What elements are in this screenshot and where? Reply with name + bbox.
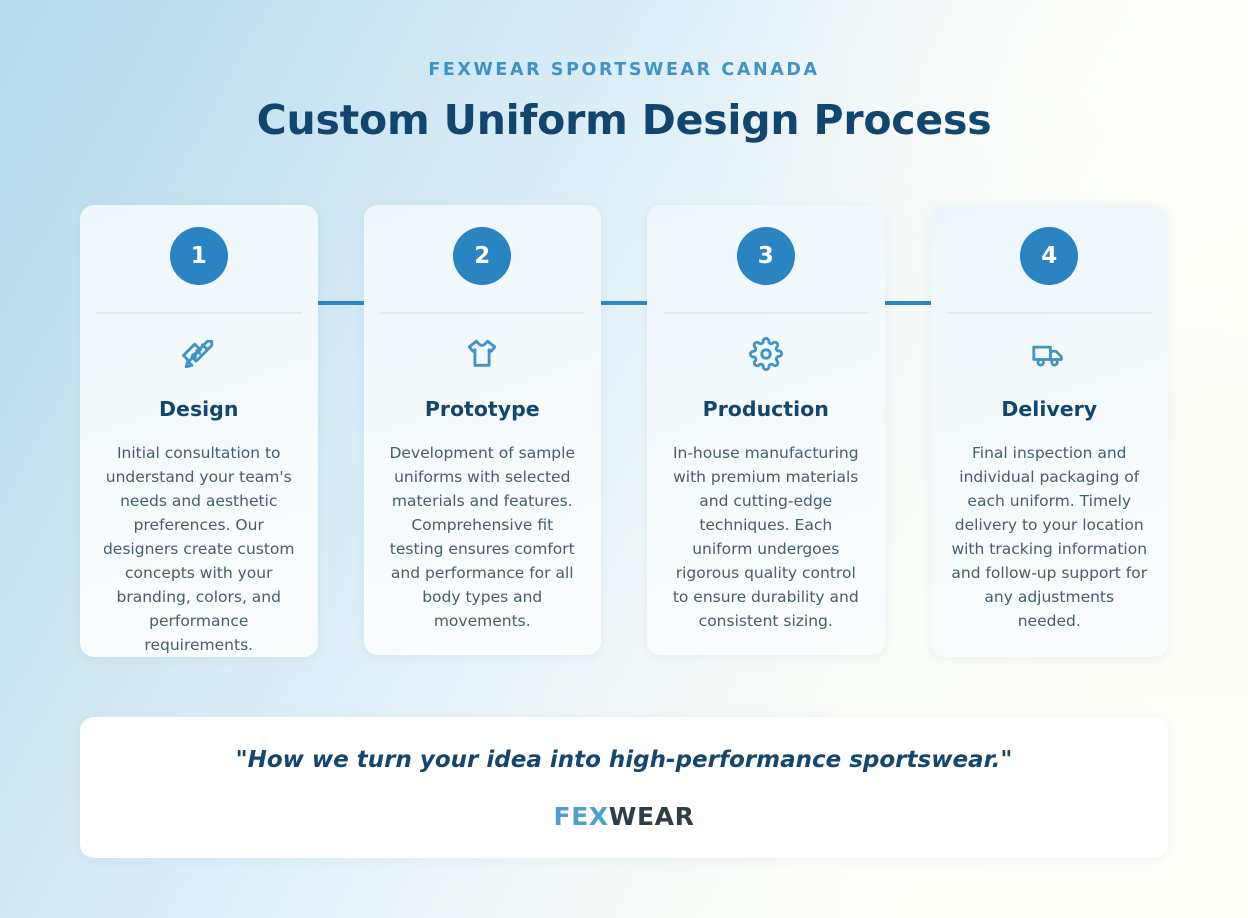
process-steps-section: → → → 1 Design Initi: [80, 205, 1168, 657]
logo-secondary-text: WEAR: [609, 802, 695, 831]
step-title: Production: [663, 397, 869, 422]
footer-panel: "How we turn your idea into high-perform…: [80, 717, 1168, 858]
card-divider: [663, 312, 869, 314]
card-divider: [380, 312, 586, 314]
gear-icon: [663, 336, 869, 372]
step-number-badge: 3: [737, 227, 795, 285]
step-number-badge: 2: [453, 227, 511, 285]
step-card-production[interactable]: 3 Production In-house manufacturing with…: [647, 205, 885, 655]
step-title: Delivery: [947, 397, 1153, 422]
brand-logo: FEXWEAR: [554, 804, 695, 829]
step-title: Design: [96, 397, 302, 422]
page-title: Custom Uniform Design Process: [0, 97, 1248, 144]
step-description: In-house manufacturing with premium mate…: [663, 441, 869, 633]
infographic-page: FEXWEAR SPORTSWEAR CANADA Custom Uniform…: [0, 0, 1248, 918]
page-header: FEXWEAR SPORTSWEAR CANADA Custom Uniform…: [0, 0, 1248, 144]
brand-eyebrow: FEXWEAR SPORTSWEAR CANADA: [0, 62, 1248, 80]
card-divider: [947, 312, 1153, 314]
pencil-ruler-icon: [96, 336, 302, 372]
step-card-delivery[interactable]: 4 Delivery Final inspection and individu…: [931, 205, 1169, 657]
step-number-badge: 1: [170, 227, 228, 285]
step-card-prototype[interactable]: 2 Prototype Development of sample unifor…: [364, 205, 602, 655]
tshirt-icon: [380, 336, 586, 372]
logo-primary-text: FEX: [554, 802, 609, 831]
delivery-truck-icon: [947, 336, 1153, 372]
step-description: Initial consultation to understand your …: [96, 441, 302, 657]
step-number-badge: 4: [1020, 227, 1078, 285]
step-description: Final inspection and individual packagin…: [947, 441, 1153, 633]
step-card-design[interactable]: 1 Design Initial consultation to underst…: [80, 205, 318, 657]
step-description: Development of sample uniforms with sele…: [380, 441, 586, 633]
step-card-list: 1 Design Initial consultation to underst…: [80, 205, 1168, 657]
step-title: Prototype: [380, 397, 586, 422]
card-divider: [96, 312, 302, 314]
tagline-quote: "How we turn your idea into high-perform…: [236, 746, 1013, 775]
